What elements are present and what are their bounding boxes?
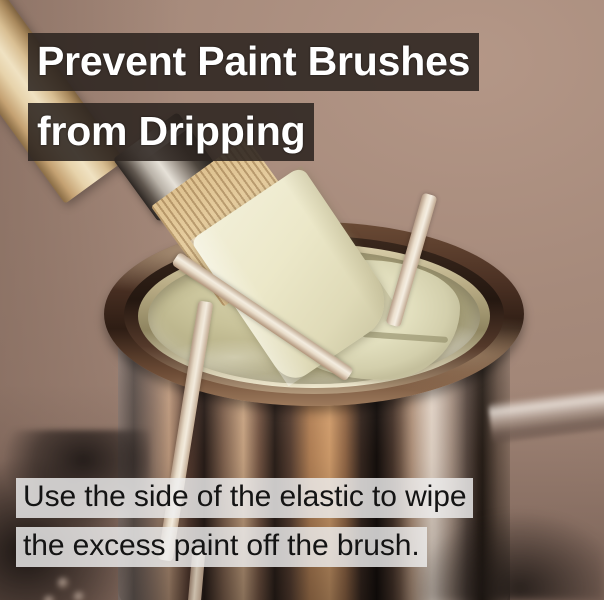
title-line-2: from Dripping	[28, 103, 314, 161]
dark-object-bead	[44, 596, 55, 600]
title-overlay: Prevent Paint Brushes from Dripping	[28, 33, 479, 161]
caption-line-2: the excess paint off the brush.	[16, 527, 427, 567]
title-line-1: Prevent Paint Brushes	[28, 33, 479, 91]
caption-overlay: Use the side of the elastic to wipe the …	[16, 478, 473, 567]
caption-line-1: Use the side of the elastic to wipe	[16, 478, 473, 518]
dark-object-bead	[74, 592, 85, 600]
dark-object-bead	[58, 578, 69, 589]
meme-image: Prevent Paint Brushes from Dripping Use …	[0, 0, 604, 600]
